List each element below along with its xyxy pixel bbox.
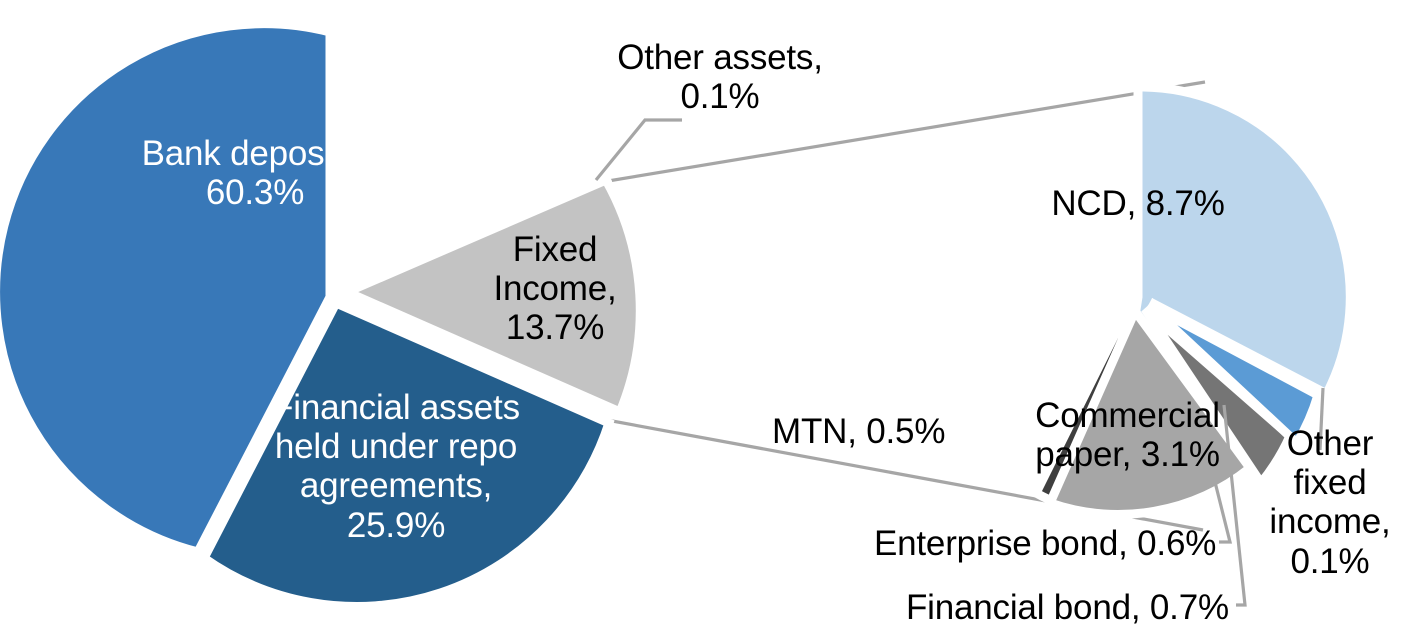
- label-other-assets: Other assets, 0.1%: [600, 38, 840, 116]
- label-commercial-paper: Commercial paper, 3.1%: [1020, 396, 1235, 474]
- pie-of-pie-chart: Bank deposits, 60.3% Financial assets he…: [0, 0, 1404, 644]
- label-bank-deposits: Bank deposits, 60.3%: [120, 134, 390, 212]
- label-ncd: NCD, 8.7%: [1038, 184, 1238, 223]
- label-repo-agreements: Financial assets held under repo agreeme…: [256, 388, 536, 545]
- label-enterprise-bond: Enterprise bond, 0.6%: [874, 524, 1234, 563]
- label-financial-bond: Financial bond, 0.7%: [906, 588, 1246, 627]
- label-other-fixed-income: Other fixed income, 0.1%: [1256, 424, 1404, 581]
- label-mtn: MTN, 0.5%: [772, 412, 982, 451]
- label-fixed-income: Fixed Income, 13.7%: [470, 230, 640, 348]
